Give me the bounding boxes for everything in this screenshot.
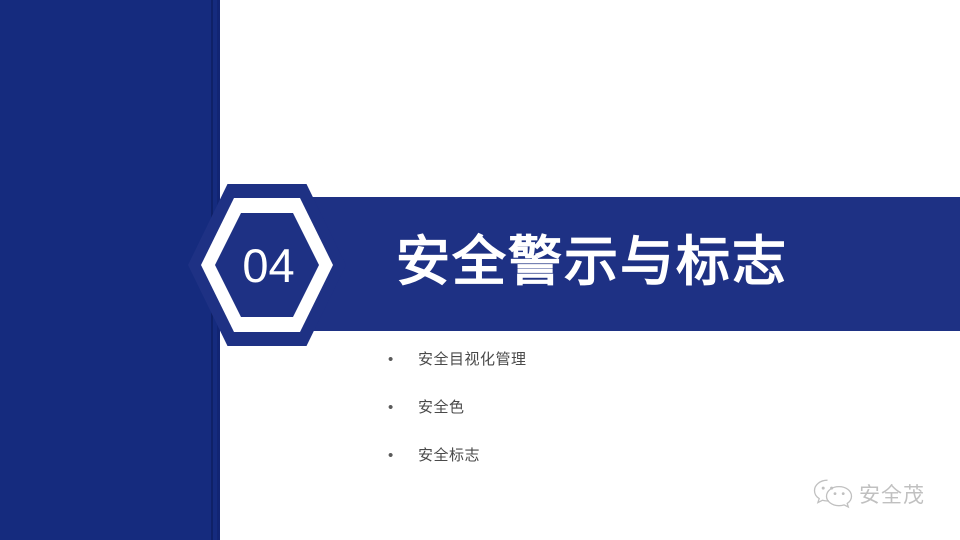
bullet-marker-icon: • — [384, 349, 418, 371]
watermark-label: 安全茂 — [859, 479, 925, 509]
bullet-list: • 安全目视化管理 • 安全色 • 安全标志 — [384, 349, 804, 493]
list-item-label: 安全标志 — [418, 445, 480, 467]
page-title: 安全警示与标志 — [396, 231, 788, 295]
presentation-slide: 04 安全警示与标志 • 安全目视化管理 • 安全色 • 安全标志 — [0, 0, 960, 540]
list-item: • 安全目视化管理 — [384, 349, 804, 397]
watermark: 安全茂 — [812, 476, 925, 512]
wechat-icon — [812, 476, 854, 512]
section-number-hexagon-badge: 04 — [188, 184, 346, 346]
list-item: • 安全色 — [384, 397, 804, 445]
left-blue-band — [0, 0, 220, 540]
bullet-marker-icon: • — [384, 397, 418, 419]
list-item-label: 安全色 — [418, 397, 465, 419]
list-item-label: 安全目视化管理 — [418, 349, 527, 371]
section-number-label: 04 — [188, 184, 346, 346]
bullet-marker-icon: • — [384, 445, 418, 467]
list-item: • 安全标志 — [384, 445, 804, 493]
